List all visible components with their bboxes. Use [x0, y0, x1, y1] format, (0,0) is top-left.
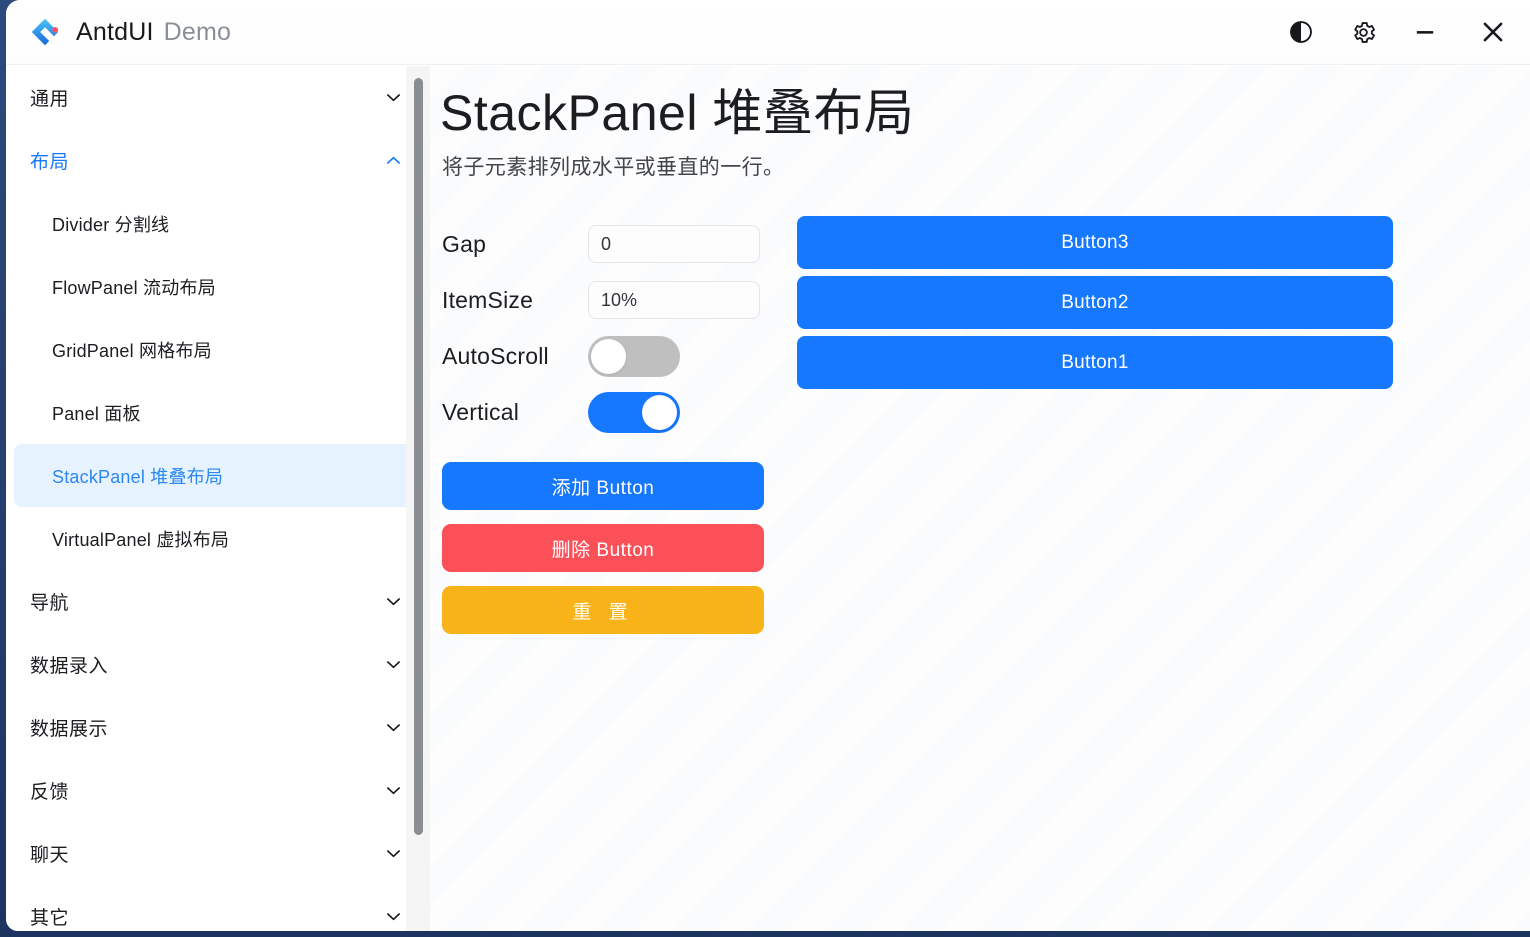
- sidebar-item-label: GridPanel 网格布局: [52, 337, 212, 363]
- sidebar-item-label: Divider 分割线: [52, 211, 169, 237]
- minimize-icon: [1411, 18, 1439, 46]
- contrast-circle-icon: [1288, 19, 1314, 45]
- sidebar-item-label: VirtualPanel 虚拟布局: [52, 526, 229, 552]
- sidebar-scroll-content: 通用 布局 Divider 分割线: [6, 66, 430, 931]
- sidebar-item-stackpanel[interactable]: StackPanel 堆叠布局: [14, 444, 430, 507]
- autoscroll-toggle[interactable]: [588, 336, 680, 377]
- stack-item-button[interactable]: Button2: [797, 276, 1393, 329]
- vertical-row: Vertical: [442, 384, 772, 440]
- sidebar-group-label: 聊天: [30, 840, 69, 867]
- reset-button[interactable]: 重 置: [442, 586, 764, 634]
- chevron-down-icon: [385, 719, 402, 736]
- gap-row: Gap: [442, 216, 772, 272]
- sidebar-group-data-display[interactable]: 数据展示: [6, 696, 430, 759]
- chevron-down-icon: [385, 656, 402, 673]
- sidebar: 通用 布局 Divider 分割线: [6, 66, 430, 931]
- chevron-down-icon: [385, 593, 402, 610]
- sidebar-group-label: 数据展示: [30, 714, 108, 741]
- sidebar-group-layout[interactable]: 布局: [6, 129, 430, 192]
- theme-toggle-button[interactable]: [1270, 0, 1332, 64]
- app-title-primary: AntdUI: [76, 18, 154, 46]
- sidebar-item-label: Panel 面板: [52, 400, 141, 426]
- stack-item-button[interactable]: Button3: [797, 216, 1393, 269]
- toggle-knob: [591, 339, 626, 374]
- chevron-down-icon: [385, 908, 402, 925]
- window-controls: [1270, 0, 1530, 64]
- sidebar-group-label: 通用: [30, 84, 69, 111]
- title-bar: AntdUIDemo: [6, 0, 1530, 65]
- main-content: StackPanel 堆叠布局 将子元素排列成水平或垂直的一行。 Gap Ite…: [430, 66, 1530, 931]
- gear-icon: [1350, 19, 1377, 46]
- sidebar-item-flowpanel[interactable]: FlowPanel 流动布局: [14, 255, 430, 318]
- autoscroll-label: AutoScroll: [442, 343, 588, 370]
- chevron-down-icon: [385, 89, 402, 106]
- sidebar-group-general[interactable]: 通用: [6, 66, 430, 129]
- stack-panel-preview: Button3 Button2 Button1: [797, 216, 1393, 634]
- sidebar-group-feedback[interactable]: 反馈: [6, 759, 430, 822]
- close-icon: [1478, 17, 1508, 47]
- app-title-secondary: Demo: [164, 18, 232, 46]
- sidebar-item-gridpanel[interactable]: GridPanel 网格布局: [14, 318, 430, 381]
- sidebar-item-label: FlowPanel 流动布局: [52, 274, 216, 300]
- sidebar-scrollbar[interactable]: [406, 66, 430, 931]
- sidebar-item-panel[interactable]: Panel 面板: [14, 381, 430, 444]
- toggle-knob: [642, 395, 677, 430]
- sidebar-scrollbar-thumb[interactable]: [414, 78, 423, 835]
- add-button-button[interactable]: 添加 Button: [442, 462, 764, 510]
- demo-area: Gap ItemSize AutoScroll: [430, 216, 1530, 634]
- sidebar-item-label: StackPanel 堆叠布局: [52, 463, 223, 489]
- sidebar-item-virtualpanel[interactable]: VirtualPanel 虚拟布局: [14, 507, 430, 570]
- gap-label: Gap: [442, 231, 588, 258]
- sidebar-item-divider[interactable]: Divider 分割线: [14, 192, 430, 255]
- delete-button-button[interactable]: 删除 Button: [442, 524, 764, 572]
- window-surface: AntdUIDemo: [6, 0, 1530, 931]
- page-title: StackPanel 堆叠布局: [440, 84, 1530, 143]
- sidebar-group-chat[interactable]: 聊天: [6, 822, 430, 885]
- sidebar-group-data-entry[interactable]: 数据录入: [6, 633, 430, 696]
- page-subtitle: 将子元素排列成水平或垂直的一行。: [442, 151, 1530, 181]
- close-button[interactable]: [1456, 0, 1530, 64]
- stack-item-button[interactable]: Button1: [797, 336, 1393, 389]
- vertical-label: Vertical: [442, 399, 588, 426]
- app-title: AntdUIDemo: [76, 18, 231, 47]
- vertical-toggle[interactable]: [588, 392, 680, 433]
- sidebar-group-label: 布局: [30, 147, 69, 174]
- body-area: 通用 布局 Divider 分割线: [6, 66, 1530, 931]
- sidebar-group-label: 反馈: [30, 777, 69, 804]
- chevron-down-icon: [385, 782, 402, 799]
- gap-input[interactable]: [588, 225, 760, 263]
- sidebar-group-label: 导航: [30, 588, 69, 615]
- minimize-button[interactable]: [1394, 0, 1456, 64]
- autoscroll-row: AutoScroll: [442, 328, 772, 384]
- chevron-up-icon: [385, 152, 402, 169]
- sidebar-group-label: 其它: [30, 903, 69, 930]
- sidebar-group-navigation[interactable]: 导航: [6, 570, 430, 633]
- itemsize-row: ItemSize: [442, 272, 772, 328]
- app-window: AntdUIDemo: [0, 0, 1530, 937]
- controls-column: Gap ItemSize AutoScroll: [442, 216, 772, 634]
- antdui-logo-icon: [28, 15, 62, 49]
- sidebar-group-label: 数据录入: [30, 651, 108, 678]
- chevron-down-icon: [385, 845, 402, 862]
- itemsize-label: ItemSize: [442, 287, 588, 314]
- settings-button[interactable]: [1332, 0, 1394, 64]
- itemsize-input[interactable]: [588, 281, 760, 319]
- sidebar-group-other[interactable]: 其它: [6, 885, 430, 931]
